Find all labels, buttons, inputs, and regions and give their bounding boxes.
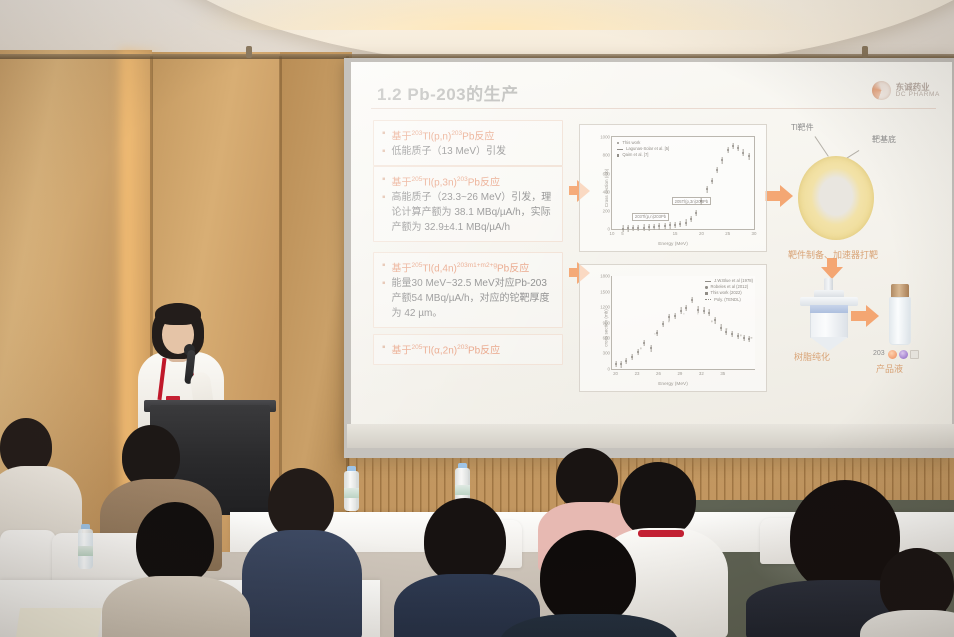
ytick: 800 <box>603 153 610 158</box>
textbox-reaction-a2n: ▪基于205Tl(α,2n)203Pb反应 <box>373 334 563 365</box>
chart-datapoint <box>685 222 687 224</box>
person-head <box>556 448 618 510</box>
chart-trend-point <box>654 333 655 334</box>
chart-bottom-datapoints <box>612 276 755 369</box>
chart-datapoint <box>716 169 718 171</box>
chart-top-plot-area: 1000 800 600 400 200 0 5 10 15 20 25 30 … <box>611 136 755 230</box>
bullet-text-1-0: 基于203Tl(p,n)203Pb反应 <box>392 126 495 144</box>
caption-target-preparation: 靶件制备、加速器打靶 <box>788 248 878 261</box>
chart-datapoint <box>620 363 622 365</box>
chart-top-datapoints <box>612 137 754 229</box>
isotope-number-label: 203 <box>873 350 885 357</box>
chart-datapoint <box>664 225 666 227</box>
chart-datapoint <box>637 351 639 353</box>
caption-product-solution: 产品液 <box>876 362 903 375</box>
person-head <box>424 498 506 584</box>
chart-cross-section-bottom: cross section (mb) 1800 1500 1200 900 60… <box>579 264 767 392</box>
chart-datapoint <box>691 299 693 301</box>
chart-datapoint <box>627 227 629 229</box>
chart-trend-point <box>712 321 713 322</box>
chart-datapoint <box>742 152 744 154</box>
bullet-dot-icon: ▪ <box>382 258 386 273</box>
chart-datapoint <box>737 335 739 337</box>
ytick: 1800 <box>600 274 610 279</box>
xtick: 35 <box>720 371 725 376</box>
chart-datapoint <box>658 225 660 227</box>
chart-datapoint <box>650 347 652 349</box>
ytick: 600 <box>603 336 610 341</box>
xtick: 26 <box>656 371 661 376</box>
ytick: 1500 <box>600 289 610 294</box>
chart-datapoint <box>643 227 645 229</box>
logo-name-en: DC PHARMA <box>896 92 940 99</box>
logo-mark-icon <box>872 81 891 100</box>
ytick: 1200 <box>600 304 610 309</box>
chart-datapoint <box>737 147 739 149</box>
wall-seam-2 <box>279 56 282 536</box>
chart-datapoint <box>748 155 750 157</box>
company-logo: 东诚药业 DC PHARMA <box>872 81 940 100</box>
bullet-item: ▪高能质子（23.3~26 MeV）引发，理论计算产额为 38.1 MBq/µA… <box>382 190 554 235</box>
chart-datapoint <box>732 145 734 147</box>
ytick: 400 <box>603 190 610 195</box>
bullet-dot-icon: ▪ <box>382 144 386 159</box>
chart-trend-point <box>740 335 741 336</box>
chart-datapoint <box>697 309 699 311</box>
xtick: 29 <box>677 371 682 376</box>
bullet-text-2-0: 基于205Tl(p,3n)203Pb反应 <box>392 172 500 190</box>
bullet-item: ▪基于203Tl(p,n)203Pb反应 <box>382 126 554 144</box>
notepad <box>16 608 102 637</box>
chart-datapoint <box>703 310 705 312</box>
chart-datapoint <box>690 218 692 220</box>
chart-datapoint <box>743 337 745 339</box>
chart-datapoint <box>725 331 727 333</box>
ytick: 900 <box>603 320 610 325</box>
presenter-fringe <box>155 303 201 325</box>
ytick: 1000 <box>600 135 610 140</box>
chart-datapoint <box>721 159 723 161</box>
chart-datapoint <box>731 333 733 335</box>
target-disc-illustration <box>798 156 874 240</box>
xtick: 15 <box>673 231 678 236</box>
chart-trend-point <box>683 313 684 314</box>
ceiling-cove-light <box>180 0 820 30</box>
textbox-reaction-p3n: ▪基于205Tl(p,3n)203Pb反应 ▪高能质子（23.3~26 MeV）… <box>373 166 563 242</box>
hazard-icon-radioactive <box>888 350 897 359</box>
bullet-dot-icon: ▪ <box>382 190 386 205</box>
chart-datapoint <box>669 224 671 226</box>
person-body <box>242 530 362 637</box>
xtick: 10 <box>610 231 615 236</box>
chart-datapoint <box>631 356 633 358</box>
chart-trend-point <box>697 314 698 315</box>
chart-datapoint <box>708 312 710 314</box>
chart-datapoint <box>637 227 639 229</box>
person-head <box>620 462 696 538</box>
rail-mount-left <box>246 46 252 58</box>
person-head <box>540 530 636 626</box>
chart-bottom-xlabel: Energy (MeV) <box>585 382 761 387</box>
bullet-text-2-1: 高能质子（23.3~26 MeV）引发，理论计算产额为 38.1 MBq/µA/… <box>392 190 554 235</box>
xtick: 25 <box>725 231 730 236</box>
chart-datapoint <box>727 149 729 151</box>
chart-datapoint <box>679 223 681 225</box>
bullet-text-3-0: 基于205Tl(d,4n)203m1+m2+gPb反应 <box>392 258 530 276</box>
chart-datapoint <box>680 310 682 312</box>
label-target-substrate: 靶基底 <box>872 134 896 145</box>
chart-top-xlabel: Energy (MeV) <box>585 242 761 247</box>
xtick: 23 <box>635 371 640 376</box>
bullet-dot-icon: ▪ <box>382 172 386 187</box>
chart-bottom-ylabel: cross section (mb) <box>603 309 608 347</box>
chart-datapoint <box>656 332 658 334</box>
chart-datapoint <box>643 342 645 344</box>
xtick: 30 <box>752 231 757 236</box>
chart-cross-section-top: Cross section (mb) 1000 800 600 400 200 … <box>579 124 767 252</box>
chart-datapoint <box>695 212 697 214</box>
chart-datapoint <box>622 228 624 230</box>
chart-datapoint <box>706 188 708 190</box>
bullet-text-1-1: 低能质子（13 MeV）引发 <box>392 144 506 159</box>
product-vial-illustration <box>887 284 913 346</box>
chart-datapoint <box>674 224 676 226</box>
conference-room-scene: 1.2 Pb-203的生产 东诚药业 DC PHARMA ▪基于203Tl(p,… <box>0 0 954 637</box>
leader-line-1 <box>815 136 829 156</box>
chart-datapoint <box>720 327 722 329</box>
chart-datapoint <box>700 200 702 202</box>
bullet-dot-icon: ▪ <box>382 126 386 141</box>
chart-datapoint <box>662 323 664 325</box>
chart-datapoint <box>674 315 676 317</box>
ytick: 200 <box>603 208 610 213</box>
chart-trend-point <box>669 321 670 322</box>
xtick: 5 <box>621 231 623 236</box>
person-body <box>102 576 250 637</box>
chart-datapoint <box>648 226 650 228</box>
bullet-dot-icon: ▪ <box>382 276 386 291</box>
xtick: 20 <box>613 371 618 376</box>
xtick: 20 <box>699 231 704 236</box>
chart-datapoint <box>711 180 713 182</box>
hazard-icon-toxic <box>899 350 908 359</box>
bullet-item: ▪基于205Tl(p,3n)203Pb反应 <box>382 172 554 190</box>
slide-content: 1.2 Pb-203的生产 东诚药业 DC PHARMA ▪基于203Tl(p,… <box>351 62 952 424</box>
rail-mount-right <box>862 46 868 58</box>
ytick: 0 <box>608 367 610 372</box>
label-tl-target: Tl靶件 <box>791 122 814 133</box>
bullet-item: ▪基于205Tl(d,4n)203m1+m2+gPb反应 <box>382 258 554 276</box>
screen-bottom-bar <box>347 424 954 448</box>
bullet-dot-icon: ▪ <box>382 340 386 355</box>
lanyard <box>638 530 684 537</box>
caption-resin-purification: 树脂纯化 <box>794 350 830 363</box>
slide-title: 1.2 Pb-203的生产 <box>377 80 519 105</box>
bullet-item: ▪低能质子（13 MeV）引发 <box>382 144 554 159</box>
chart-bottom-plot-area: 1800 1500 1200 900 600 300 0 20 23 26 29… <box>611 276 755 370</box>
hazard-icon-label <box>910 350 919 359</box>
chart-datapoint <box>653 226 655 228</box>
bullet-text-4-0: 基于205Tl(α,2n)203Pb反应 <box>392 340 501 358</box>
chart-datapoint <box>685 307 687 309</box>
bullet-text-3-1: 能量30 MeV~32.5 MeV对应Pb-203产额54 MBq/µA/h，对… <box>392 276 554 321</box>
chart-datapoint <box>668 316 670 318</box>
person-head <box>136 502 214 586</box>
chart-datapoint <box>632 227 634 229</box>
chart-datapoint <box>748 338 750 340</box>
ytick: 600 <box>603 171 610 176</box>
bullet-item: ▪基于205Tl(α,2n)203Pb反应 <box>382 340 554 358</box>
chart-trend-point <box>640 348 641 349</box>
xtick: 32 <box>699 371 704 376</box>
chart-datapoint <box>714 319 716 321</box>
title-divider <box>371 108 936 109</box>
chart-trend-point <box>751 337 752 338</box>
textbox-reaction-pn: ▪基于203Tl(p,n)203Pb反应 ▪低能质子（13 MeV）引发 <box>373 120 563 166</box>
ytick: 300 <box>603 351 610 356</box>
textbox-reaction-d4n: ▪基于205Tl(d,4n)203m1+m2+gPb反应 ▪能量30 MeV~3… <box>373 252 563 328</box>
resin-column-illustration <box>794 278 864 346</box>
bullet-item: ▪能量30 MeV~32.5 MeV对应Pb-203产额54 MBq/µA/h，… <box>382 276 554 321</box>
